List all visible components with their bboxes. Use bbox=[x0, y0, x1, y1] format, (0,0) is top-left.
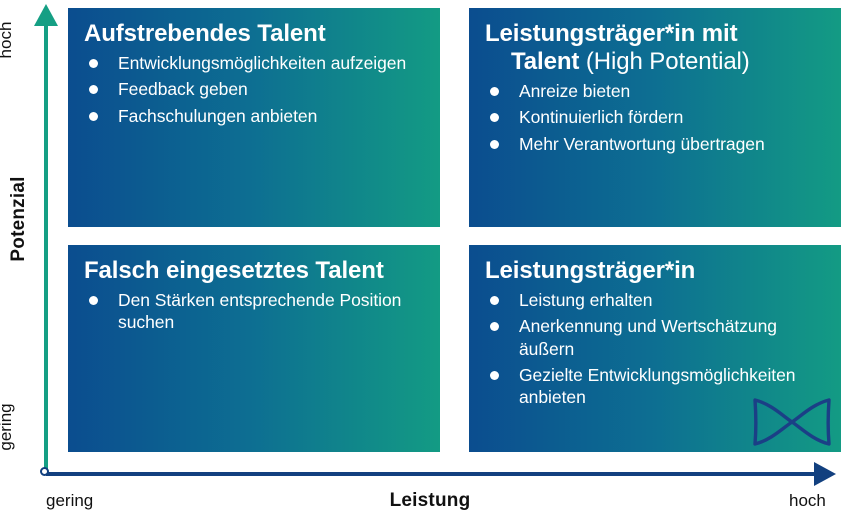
quadrant-title-text: Aufstrebendes Talent bbox=[84, 20, 326, 47]
quadrant-bullet-list: Anreize bieten Kontinuierlich fördern Me… bbox=[485, 80, 827, 155]
list-item: Feedback geben bbox=[84, 78, 426, 100]
y-axis-arrow-icon bbox=[34, 4, 58, 26]
bullet-dot-icon bbox=[490, 87, 499, 96]
list-item: Anerkennung und Wertschätzung äußern bbox=[485, 315, 827, 359]
list-item-label: Mehr Verantwortung übertragen bbox=[519, 134, 765, 154]
list-item: Gezielte Entwicklungsmöglich­keiten anbi… bbox=[485, 364, 827, 408]
bullet-dot-icon bbox=[89, 296, 98, 305]
bullet-dot-icon bbox=[490, 296, 499, 305]
quadrant-bullet-list: Den Stärken entsprechende Position suche… bbox=[84, 289, 426, 333]
x-axis-line bbox=[46, 472, 818, 476]
quadrant-top-left: Aufstrebendes Talent Entwicklungsmöglich… bbox=[68, 8, 440, 227]
list-item-label: Feedback geben bbox=[118, 79, 248, 99]
list-item-label: Anerkennung und Wertschätzung äußern bbox=[519, 316, 777, 358]
quadrant-title-text: Leistungsträger*in bbox=[485, 257, 695, 284]
list-item: Kontinuierlich fördern bbox=[485, 106, 827, 128]
quadrant-top-right: Leistungsträger*in mit Talent (High Pote… bbox=[469, 8, 841, 227]
origin-marker-icon bbox=[40, 467, 49, 476]
list-item-label: Leistung erhalten bbox=[519, 290, 652, 310]
x-axis-arrow-icon bbox=[814, 462, 836, 486]
x-axis-tick-high: hoch bbox=[789, 491, 826, 511]
talent-matrix: Potenzial Leistung hoch gering gering ho… bbox=[0, 0, 850, 530]
list-item: Mehr Verantwortung übertragen bbox=[485, 133, 827, 155]
bullet-dot-icon bbox=[89, 85, 98, 94]
quadrant-title-line2-text: Talent bbox=[511, 48, 579, 75]
list-item: Den Stärken entsprechende Position suche… bbox=[84, 289, 426, 333]
bullet-dot-icon bbox=[490, 322, 499, 331]
quadrant-title: Aufstrebendes Talent bbox=[84, 20, 426, 48]
bullet-dot-icon bbox=[490, 371, 499, 380]
quadrant-bullet-list: Leistung erhalten Anerkennung und Wertsc… bbox=[485, 289, 827, 408]
list-item-label: Fachschulungen anbieten bbox=[118, 106, 317, 126]
quadrant-bottom-left: Falsch eingesetztes Talent Den Stärken e… bbox=[68, 245, 440, 452]
list-item: Fachschulungen anbieten bbox=[84, 105, 426, 127]
list-item-label: Kontinuierlich fördern bbox=[519, 107, 683, 127]
y-axis-title: Potenzial bbox=[8, 164, 30, 274]
y-axis-line bbox=[44, 22, 48, 474]
quadrant-bottom-right: Leistungsträger*in Leistung erhalten Ane… bbox=[469, 245, 841, 452]
list-item-label: Gezielte Entwicklungsmöglich­keiten anbi… bbox=[519, 365, 796, 407]
bullet-dot-icon bbox=[490, 113, 499, 122]
quadrant-title: Leistungsträger*in mit Talent (High Pote… bbox=[485, 20, 827, 76]
quadrant-title-text: Falsch eingesetztes Talent bbox=[84, 257, 384, 284]
list-item-label: Entwicklungsmöglichkeiten aufzeigen bbox=[118, 53, 406, 73]
y-axis-tick-high: hoch bbox=[0, 10, 16, 70]
list-item: Anreize bieten bbox=[485, 80, 827, 102]
list-item-label: Den Stärken entsprechende Position suche… bbox=[118, 290, 401, 332]
bullet-dot-icon bbox=[89, 59, 98, 68]
bullet-dot-icon bbox=[490, 140, 499, 149]
quadrant-bullet-list: Entwicklungsmöglichkeiten aufzeigen Feed… bbox=[84, 52, 426, 127]
quadrant-title: Leistungsträger*in bbox=[485, 257, 827, 285]
quadrant-title-suffix: (High Potential) bbox=[586, 48, 750, 75]
list-item-label: Anreize bieten bbox=[519, 81, 630, 101]
x-axis-title: Leistung bbox=[330, 490, 530, 512]
x-axis-tick-low: gering bbox=[46, 491, 93, 511]
list-item: Leistung erhalten bbox=[485, 289, 827, 311]
list-item: Entwicklungsmöglichkeiten aufzeigen bbox=[84, 52, 426, 74]
y-axis-tick-low: gering bbox=[0, 395, 16, 459]
bullet-dot-icon bbox=[89, 112, 98, 121]
quadrant-title-text: Leistungsträger*in mit bbox=[485, 20, 738, 47]
quadrant-title: Falsch eingesetztes Talent bbox=[84, 257, 426, 285]
quadrant-title-line2: Talent (High Potential) bbox=[485, 48, 827, 76]
